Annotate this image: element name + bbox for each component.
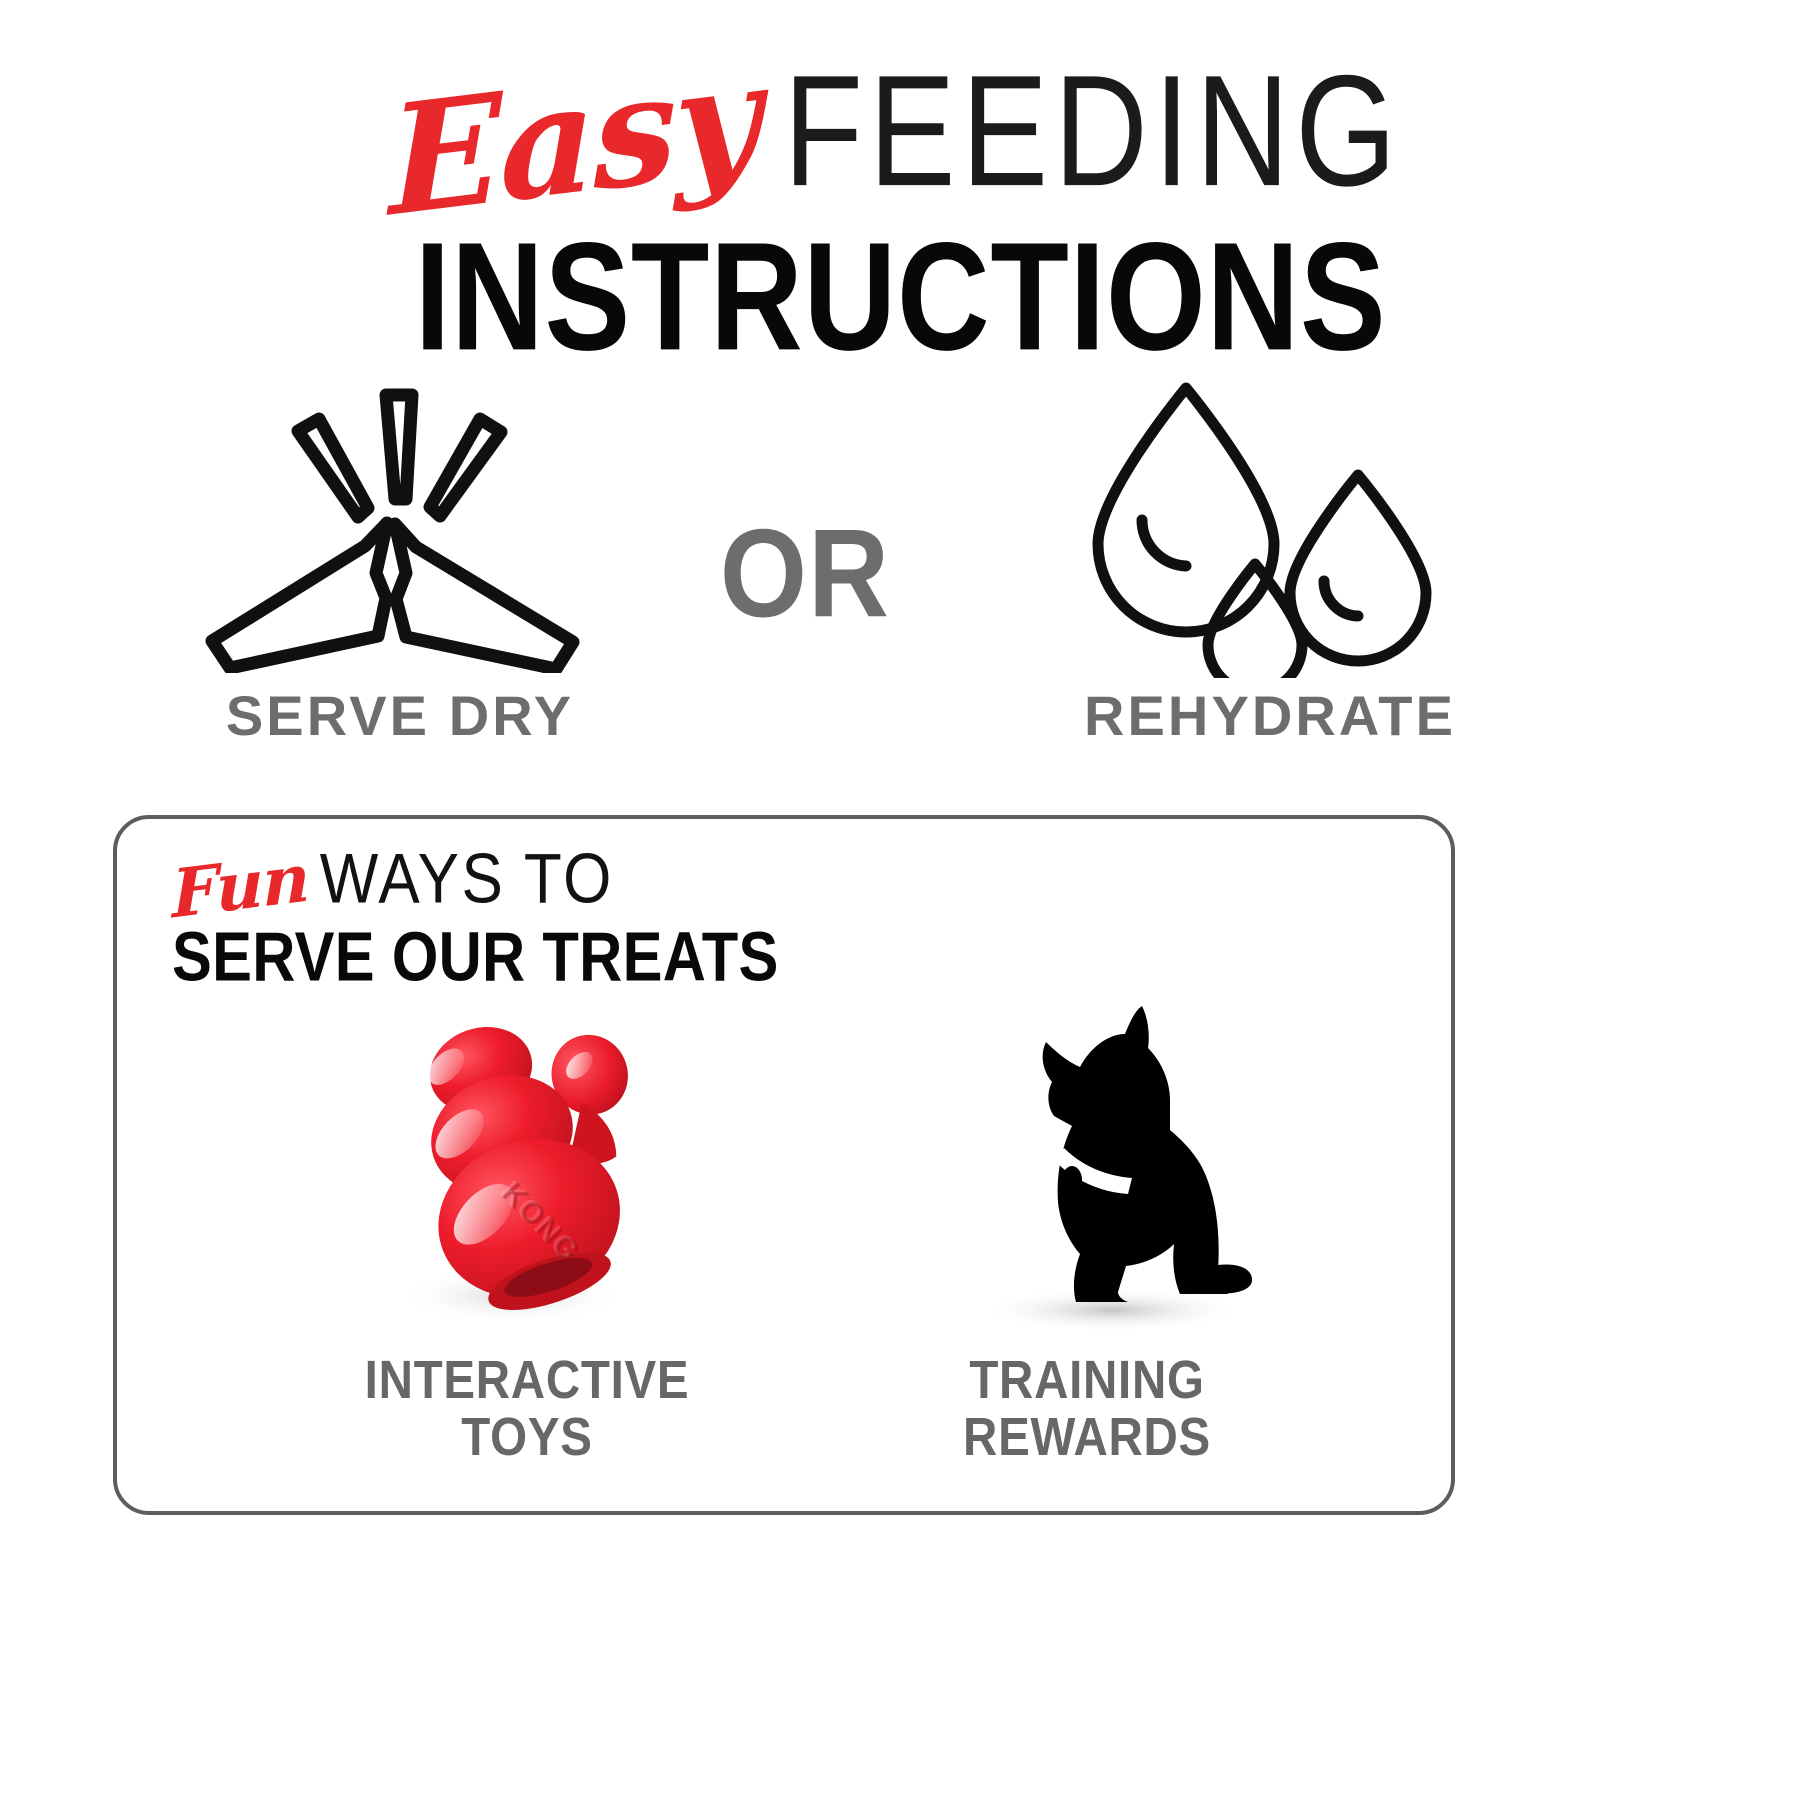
ways-to-word: WAYS TO [320,844,614,915]
fun-ways-card: Fun WAYS TO SERVE OUR TREATS [113,815,1455,1515]
page-header: Easy FEEDING INSTRUCTIONS [0,54,1801,346]
easy-script-word: Easy [388,42,759,238]
water-drops-icon [1010,378,1530,678]
method-label-serve-dry: SERVE DRY [140,688,660,744]
feeding-word: FEEDING [784,53,1403,211]
fun-heading-line-one: Fun WAYS TO [172,841,761,915]
feeding-methods-row: SERVE DRY OR REHYDRATE [0,378,1801,778]
title-line-one: Easy FEEDING [0,54,1801,214]
fun-script-word: Fun [171,844,309,927]
fun-card-heading: Fun WAYS TO SERVE OUR TREATS [172,841,761,981]
sitting-dog-silhouette [857,994,1317,1334]
method-rehydrate: REHYDRATE [1010,378,1530,778]
fun-item-interactive-toys: KONG KONG INTERACTIVE TOYS [297,994,757,1494]
fun-label-line-1: INTERACTIVE [325,1352,730,1409]
fun-item-training-rewards: TRAINING REWARDS [857,994,1317,1494]
method-label-rehydrate: REHYDRATE [1010,688,1530,744]
fun-items-row: KONG KONG INTERACTIVE TOYS [117,994,1451,1494]
serve-our-treats-word: SERVE OUR TREATS [172,923,779,993]
instructions-word: INSTRUCTIONS [0,220,1801,374]
fun-label-training-rewards: TRAINING REWARDS [885,1352,1290,1465]
fun-label-line-2: REWARDS [885,1409,1290,1466]
snap-break-icon [140,378,660,678]
or-separator-label: OR [690,511,920,636]
fun-label-interactive-toys: INTERACTIVE TOYS [325,1352,730,1465]
fun-label-line-1: TRAINING [885,1352,1290,1409]
kong-toy-image: KONG KONG [297,994,757,1334]
method-serve-dry: SERVE DRY [140,378,660,778]
fun-label-line-2: TOYS [325,1409,730,1466]
